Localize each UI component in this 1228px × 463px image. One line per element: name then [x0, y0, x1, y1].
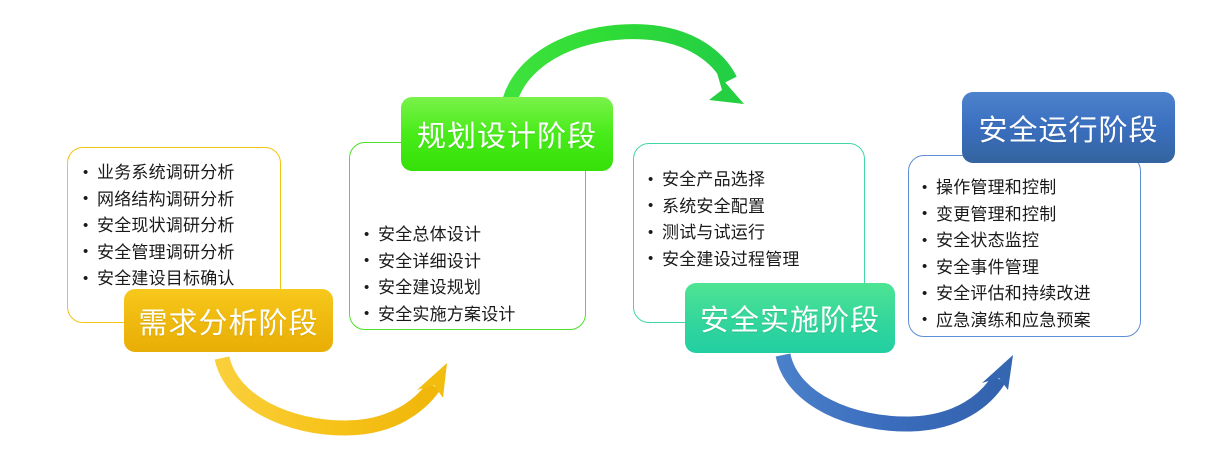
arrow-stage3-to-stage4 — [783, 355, 1013, 424]
stage-label-text: 需求分析阶段 — [138, 300, 318, 342]
stage-label-text: 安全运行阶段 — [978, 107, 1158, 149]
list-item: 安全管理调研分析 — [82, 240, 235, 267]
list-item: 安全产品选择 — [647, 167, 800, 194]
stage-label-security-operation: 安全运行阶段 — [962, 92, 1175, 163]
list-item: 网络结构调研分析 — [82, 187, 235, 214]
list-item: 安全详细设计 — [363, 249, 516, 276]
list-item: 变更管理和控制 — [921, 202, 1091, 229]
stage-item-list-security-operation: 操作管理和控制 变更管理和控制 安全状态监控 安全事件管理 安全评估和持续改进 … — [921, 175, 1091, 334]
list-item: 安全评估和持续改进 — [921, 281, 1091, 308]
list-item: 安全状态监控 — [921, 228, 1091, 255]
list-item: 业务系统调研分析 — [82, 160, 235, 187]
list-item: 安全建设过程管理 — [647, 247, 800, 274]
diagram-canvas: 业务系统调研分析 网络结构调研分析 安全现状调研分析 安全管理调研分析 安全建设… — [0, 0, 1228, 463]
list-item: 应急演练和应急预案 — [921, 308, 1091, 335]
arrow-stage1-to-stage2 — [222, 358, 447, 428]
stage-item-list-planning-design: 安全总体设计 安全详细设计 安全建设规划 安全实施方案设计 — [363, 222, 516, 328]
list-item: 安全总体设计 — [363, 222, 516, 249]
stage-label-text: 安全实施阶段 — [700, 297, 880, 339]
arrow-stage2-to-stage3 — [510, 32, 744, 104]
list-item: 安全事件管理 — [921, 255, 1091, 282]
list-item: 安全建设规划 — [363, 275, 516, 302]
stage-label-security-implementation: 安全实施阶段 — [685, 283, 895, 353]
list-item: 操作管理和控制 — [921, 175, 1091, 202]
stage-label-planning-design: 规划设计阶段 — [401, 97, 613, 171]
list-item: 测试与试运行 — [647, 220, 800, 247]
list-item: 安全实施方案设计 — [363, 302, 516, 329]
list-item: 安全现状调研分析 — [82, 213, 235, 240]
stage-item-list-requirement-analysis: 业务系统调研分析 网络结构调研分析 安全现状调研分析 安全管理调研分析 安全建设… — [82, 160, 235, 293]
list-item: 系统安全配置 — [647, 194, 800, 221]
stage-label-requirement-analysis: 需求分析阶段 — [124, 289, 333, 352]
stage-item-list-security-implementation: 安全产品选择 系统安全配置 测试与试运行 安全建设过程管理 — [647, 167, 800, 273]
stage-label-text: 规划设计阶段 — [417, 113, 597, 155]
